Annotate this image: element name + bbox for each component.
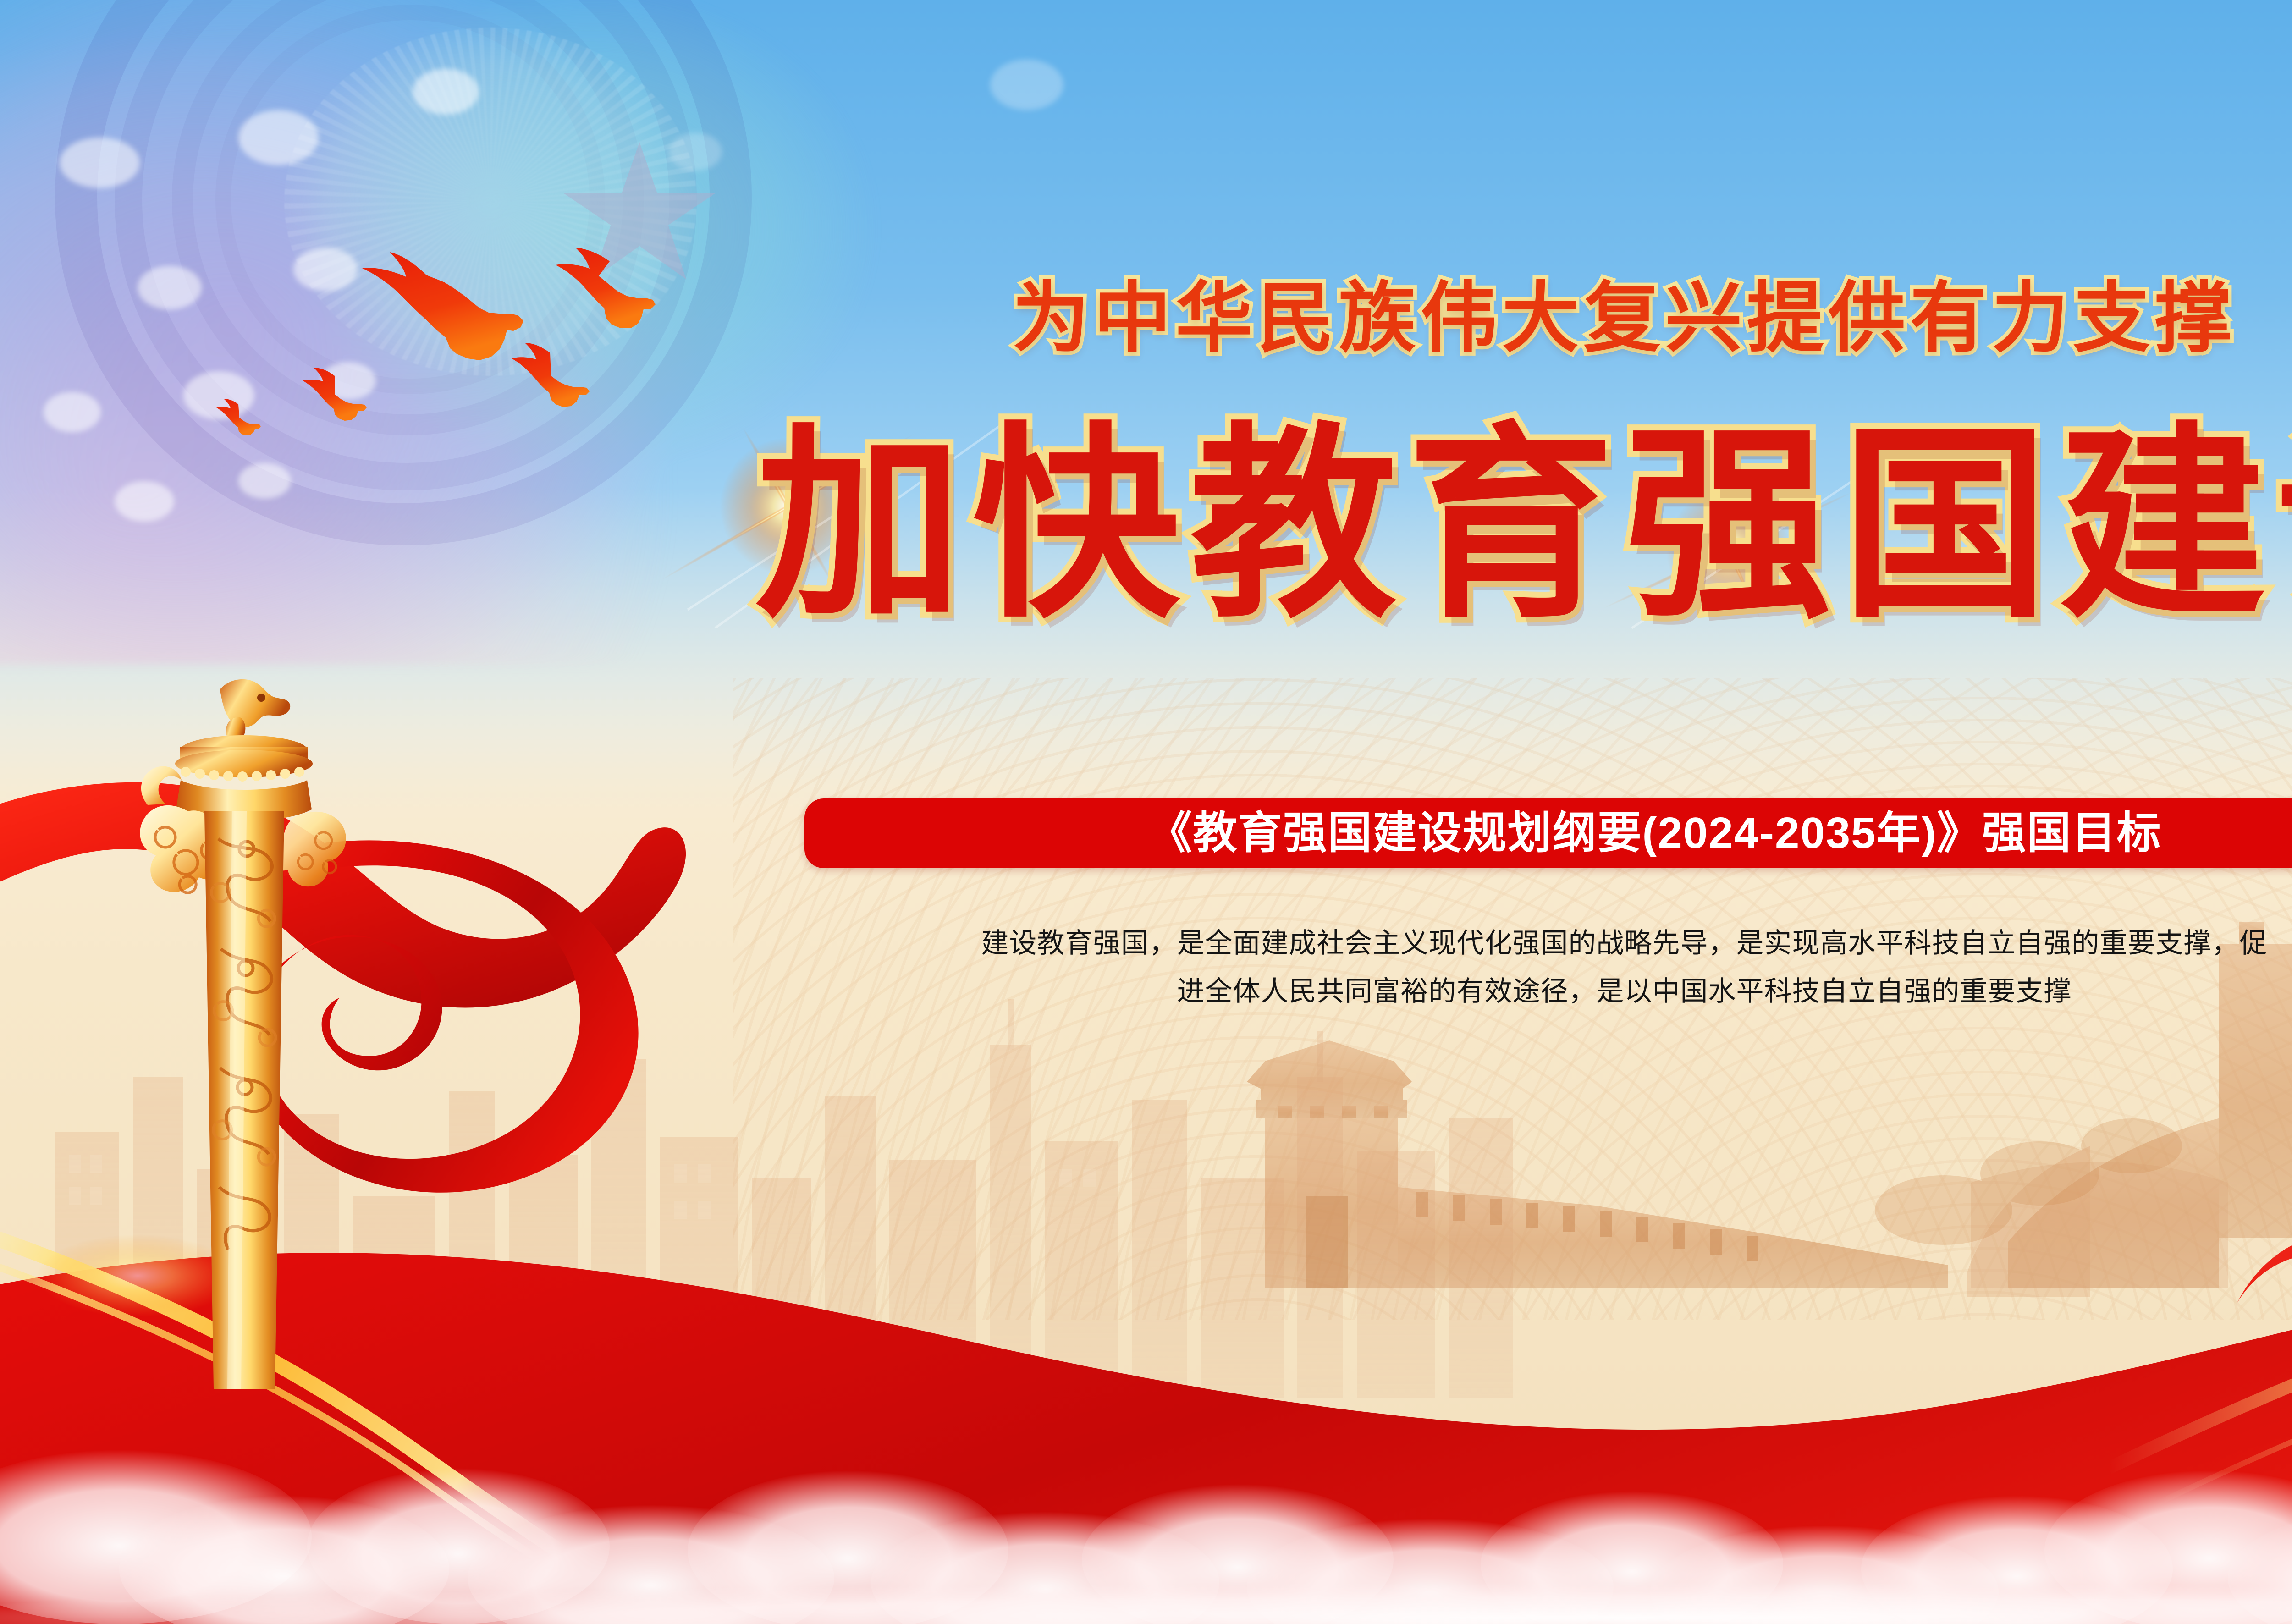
subtitle-banner: 《教育强国建设规划纲要(2024-2035年)》强国目标 [804,798,2292,868]
headline-text: 为中华民族伟大复兴提供有力支撑 [0,280,2292,357]
body-line-1: 建设教育强国，是全面建成社会主义现代化强国的战略先导，是实现高水平科技自立自强的… [0,919,2292,967]
body-line-2: 进全体人民共同富裕的有效途径，是以中国水平科技自立自强的重要支撑 [0,967,2292,1015]
page-title: 加快教育强国建设 [0,422,2292,629]
great-wall-silhouette-icon [0,825,2292,1375]
decorative-ring-3 [172,0,644,435]
bokeh-dot [669,133,722,171]
decorative-ring-2 [115,0,697,490]
bokeh-dot [238,110,319,165]
huabiao-column-icon [124,674,362,1389]
poster-canvas: 为中华民族伟大复兴提供有力支撑 加快教育强国建设 《教育强国建设规划纲要(202… [0,0,2292,1624]
bokeh-dot [60,138,140,188]
white-clouds-icon [0,1386,2292,1624]
subtitle-banner-text: 《教育强国建设规划纲要(2024-2035年)》强国目标 [1148,811,2161,855]
body-paragraph: 建设教育强国，是全面建成社会主义现代化强国的战略先导，是实现高水平科技自立自强的… [0,919,2292,1015]
bokeh-dot [990,60,1063,110]
bokeh-dot [413,69,479,115]
bokeh-dot [321,362,376,400]
bokeh-dot [183,371,254,419]
five-pointed-star-icon [564,142,715,286]
red-silk-ribbons-icon [0,753,2292,1624]
